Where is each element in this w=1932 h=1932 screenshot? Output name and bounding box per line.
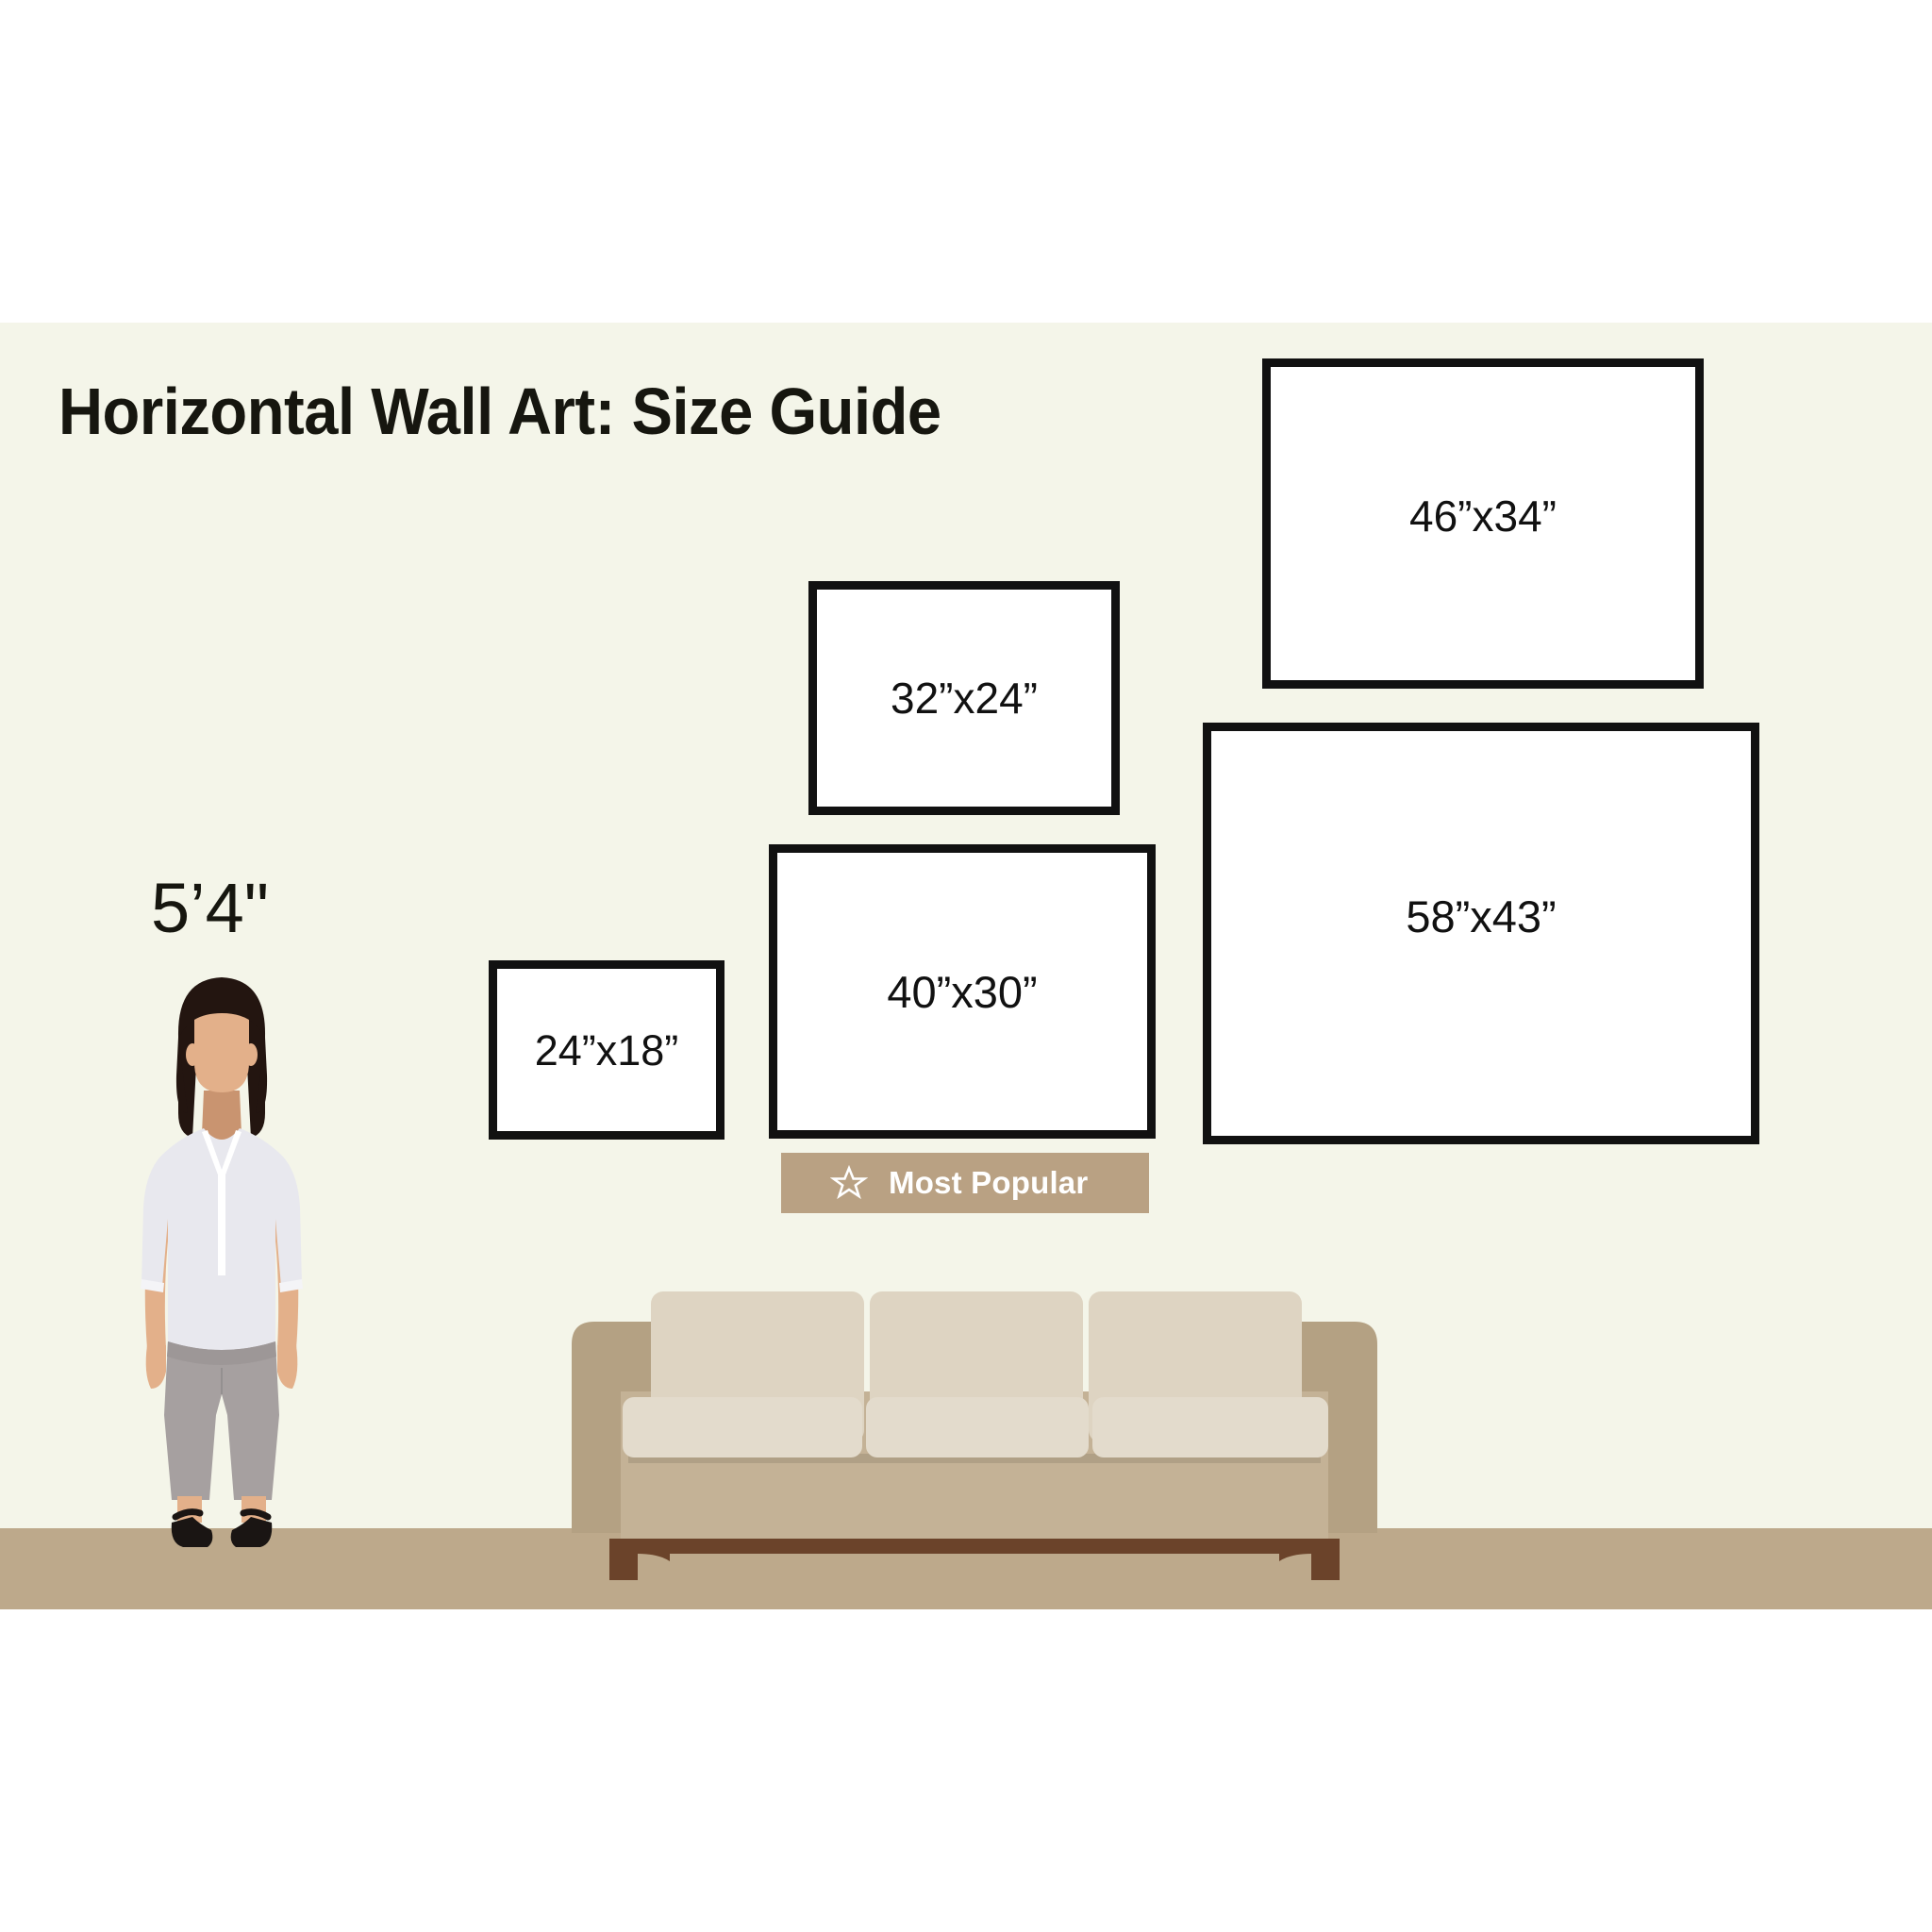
- hand-right: [277, 1345, 297, 1389]
- art-frame-46x34[interactable]: 46”x34”: [1262, 358, 1704, 689]
- art-frame-label: 58”x43”: [1406, 894, 1556, 939]
- shoe-left: [172, 1517, 213, 1547]
- most-popular-label: Most Popular: [889, 1165, 1088, 1201]
- art-frame-32x24[interactable]: 32”x24”: [808, 581, 1120, 815]
- sofa-bracket-left: [638, 1554, 670, 1561]
- person-figure: [113, 972, 330, 1557]
- sofa: [564, 1278, 1385, 1580]
- sofa-base-rail: [609, 1539, 1340, 1554]
- page-title: Horizontal Wall Art: Size Guide: [58, 374, 941, 449]
- sofa-bracket-right: [1279, 1554, 1311, 1561]
- person-height-label: 5’4": [151, 868, 269, 948]
- art-frame-label: 32”x24”: [891, 676, 1038, 720]
- most-popular-badge[interactable]: Most Popular: [781, 1153, 1149, 1213]
- button-placket: [218, 1172, 225, 1275]
- art-frame-label: 24”x18”: [535, 1029, 679, 1072]
- ear-left: [186, 1043, 199, 1066]
- shoe-right: [231, 1517, 273, 1547]
- art-frame-40x30[interactable]: 40”x30”: [769, 844, 1156, 1139]
- hand-left: [146, 1345, 166, 1389]
- ear-right: [244, 1043, 258, 1066]
- art-frame-58x43[interactable]: 58”x43”: [1203, 723, 1759, 1144]
- sofa-leg-right: [1311, 1539, 1340, 1580]
- art-frame-label: 40”x30”: [887, 970, 1037, 1014]
- sofa-leg-left: [609, 1539, 638, 1580]
- size-guide-infographic: Horizontal Wall Art: Size Guide 5’4": [0, 0, 1932, 1932]
- art-frame-label: 46”x34”: [1409, 494, 1557, 538]
- star-icon: [830, 1164, 868, 1202]
- seat-cushion-2: [866, 1397, 1089, 1457]
- trousers: [164, 1341, 279, 1500]
- seat-cushion-3: [1092, 1397, 1328, 1457]
- art-frame-24x18[interactable]: 24”x18”: [489, 960, 724, 1140]
- seat-cushion-1: [623, 1397, 862, 1457]
